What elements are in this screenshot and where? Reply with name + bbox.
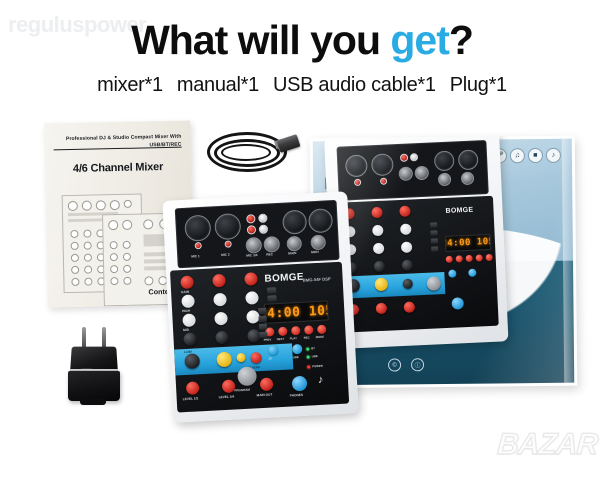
button-usb-label: USB: [293, 355, 299, 359]
watermark-bazar: BAZAR: [495, 428, 598, 472]
xlr-input-2: [214, 213, 241, 240]
page-title: What will you get?: [0, 20, 604, 61]
info-icon: ⓘ: [411, 358, 424, 371]
rear-label-mic34: MIC 3/4: [246, 253, 257, 258]
mixer-product-front: MIC 1 MIC 2 MIC 3/4 REC MAIN MON GAIN HI…: [162, 191, 358, 422]
transport-label-prev: PREV: [264, 337, 272, 341]
amplifier-icon: ■: [528, 148, 543, 163]
main-out-label: MAIN OUT: [257, 393, 273, 398]
trs-output-mon: [310, 235, 326, 251]
led-power: [307, 365, 310, 368]
mid-label: MID: [183, 328, 189, 332]
gain-label: GAIN: [181, 290, 189, 294]
transport-label-next: NEXT: [277, 337, 285, 341]
xlr-output-main: [282, 209, 307, 234]
gain-knob-ch2[interactable]: [212, 274, 226, 288]
rear-label-mic2: MIC 2: [221, 253, 230, 257]
gain-knob-ch3[interactable]: [244, 272, 258, 286]
rca-jack-white-2: [259, 225, 268, 234]
box-art-display-digits: 24:00 105: [445, 237, 492, 249]
high-knob-ch2[interactable]: [213, 293, 227, 307]
box-art-mixer-rear-panel: [336, 140, 488, 201]
power-plug-adapter: [64, 327, 132, 405]
rear-led-1: [195, 242, 202, 249]
box-feature-icons: 🎤 ♫ ■ ♪: [492, 148, 561, 164]
high-knob-ch3[interactable]: [245, 291, 259, 305]
switch-row-2[interactable]: [267, 295, 276, 301]
button-usb[interactable]: [292, 344, 303, 355]
mixer-model-number: BMG-04F DSP: [303, 276, 331, 282]
item-plug: Plug*1: [450, 74, 507, 96]
button-rec[interactable]: [304, 325, 313, 334]
trs-output-main: [286, 236, 302, 252]
main-out-knob[interactable]: [260, 377, 274, 391]
box-art-brand: BOMGE: [445, 207, 473, 215]
button-mode[interactable]: [317, 325, 326, 334]
plug-foot: [80, 399, 106, 405]
low-knob-ch2[interactable]: [215, 331, 229, 345]
plug-prong-left: [82, 327, 86, 348]
xlr-output-mon: [308, 208, 333, 233]
usb-a-connector: [277, 134, 301, 153]
headline-accent-get: get: [390, 17, 449, 63]
copyright-icon: ©: [388, 358, 401, 371]
manual-header-line-1: Professional DJ & Studio Compact Mixer W…: [66, 134, 182, 142]
phones-knob[interactable]: [292, 376, 308, 392]
usb-audio-cable: [205, 128, 301, 174]
box-art-display: 24:00 105: [445, 234, 492, 252]
low-knob-ch1[interactable]: [183, 332, 197, 346]
music-note-icon: ♪: [546, 148, 561, 163]
led-usb: [307, 355, 310, 358]
cable-loop-inner: [221, 144, 271, 161]
trs-jack-2: [263, 236, 280, 253]
transport-label-rec: REC: [304, 335, 310, 339]
transport-label-mode: MODE: [316, 335, 325, 339]
trs-jack-1: [245, 237, 262, 254]
level-knob-1-2[interactable]: [186, 381, 200, 395]
plug-prong-right: [102, 327, 106, 348]
rear-label-rec: REC: [266, 252, 273, 256]
plug-body-lower: [68, 371, 120, 401]
high-label: HIGH: [182, 309, 190, 313]
plug-body-upper: [70, 347, 118, 371]
mixer-brand-logo: BOMGE: [264, 272, 304, 285]
mixer-control-face: GAIN HIGH MID LOW FX SEND LEVEL 1/2: [170, 262, 349, 413]
item-mixer: mixer*1: [97, 74, 163, 96]
program-knob[interactable]: [237, 366, 257, 386]
switch-row-1[interactable]: [267, 287, 276, 293]
switch-row-6[interactable]: [259, 332, 267, 338]
item-manual: manual*1: [177, 74, 259, 96]
gain-knob-ch1[interactable]: [180, 275, 194, 289]
button-play[interactable]: [291, 326, 300, 335]
rear-label-main: MAIN: [288, 251, 296, 255]
items-list: mixer*1manual*1USB audio cable*1Plug*1: [0, 74, 604, 97]
transport-label-play: PLAY: [290, 336, 297, 340]
display-value: 24:00 105: [264, 303, 329, 322]
mixer-led-display: 24:00 105: [264, 300, 329, 323]
level-1-2-label: LEVEL 1/2: [183, 396, 199, 401]
box-right-edge: [562, 139, 575, 383]
level-3-4-label: LEVEL 3/4: [219, 395, 235, 400]
rear-label-mic1: MIC 1: [191, 254, 200, 258]
mid-knob-ch2[interactable]: [214, 312, 228, 326]
switch-row-4[interactable]: [258, 316, 266, 322]
rca-jack-red-1: [246, 214, 255, 223]
rca-jack-white-1: [258, 214, 267, 223]
led-label-bluetooth: BT: [311, 346, 315, 350]
box-caption-icons: © ⓘ: [388, 358, 424, 371]
switch-row-5[interactable]: [259, 324, 267, 330]
rear-led-2: [224, 240, 231, 247]
headline-part-1: What will you: [131, 17, 390, 63]
high-knob-ch1[interactable]: [181, 294, 195, 308]
headphone-icon: ♪: [318, 375, 324, 386]
mid-knob-ch1[interactable]: [182, 313, 196, 327]
phones-label: PHONES: [290, 393, 304, 398]
program-knob-label: PROGRAM: [234, 388, 250, 393]
rca-jack-red-2: [247, 225, 256, 234]
rear-label-mon: MON: [311, 250, 319, 254]
mixer-rear-panel: MIC 1 MIC 2 MIC 3/4 REC MAIN MON: [175, 200, 340, 268]
box-art-mixer-face: 24:00 105 BOMGE: [335, 196, 499, 333]
product-image-canvas: reguluspower What will you get? mixer*1m…: [0, 0, 604, 480]
headline-part-3: ?: [449, 17, 473, 63]
led-label-usb: USB: [312, 354, 318, 358]
led-bluetooth: [306, 348, 309, 351]
button-next[interactable]: [278, 327, 287, 336]
switch-row-3[interactable]: [258, 308, 266, 314]
item-usb-cable: USB audio cable*1: [273, 74, 436, 96]
button-bluetooth-label: BT: [269, 356, 273, 360]
led-label-power: POWER: [312, 364, 323, 369]
xlr-input-1: [184, 215, 211, 242]
manual-title: 4/6 Channel Mixer: [45, 160, 191, 175]
speaker-icon: ♫: [510, 148, 525, 163]
